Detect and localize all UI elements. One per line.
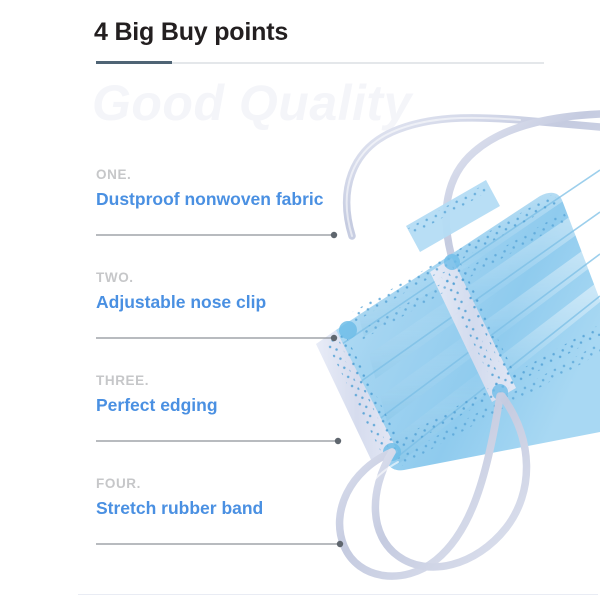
earloop-weld-point-middle bbox=[444, 254, 460, 270]
earloop-upper-group bbox=[347, 114, 600, 258]
watermark-text: Good Quality bbox=[92, 74, 412, 132]
feature-index-label: THREE. bbox=[96, 374, 218, 388]
feature-point-one: ONE. Dustproof nonwoven fabric bbox=[96, 168, 324, 208]
leader-line-one bbox=[96, 230, 346, 240]
leader-line-two bbox=[96, 333, 346, 343]
feature-point-four: FOUR. Stretch rubber band bbox=[96, 477, 263, 517]
feature-index-label: FOUR. bbox=[96, 477, 263, 491]
page-title: 4 Big Buy points bbox=[94, 18, 288, 47]
feature-point-three: THREE. Perfect edging bbox=[96, 374, 218, 414]
mask-body bbox=[316, 156, 600, 470]
feature-point-two: TWO. Adjustable nose clip bbox=[96, 271, 266, 311]
feature-title: Dustproof nonwoven fabric bbox=[96, 191, 324, 209]
nose-clip-stitch-row bbox=[352, 198, 566, 336]
earloop-weld-point-lower-left bbox=[383, 443, 401, 461]
feature-title: Stretch rubber band bbox=[96, 500, 263, 518]
feature-index-label: TWO. bbox=[96, 271, 266, 285]
earloop-weld-point-lower-middle bbox=[492, 384, 508, 400]
infographic-page: Good Quality bbox=[0, 0, 600, 600]
feature-title: Adjustable nose clip bbox=[96, 294, 266, 312]
footer-divider bbox=[78, 594, 598, 595]
feature-title: Perfect edging bbox=[96, 397, 218, 415]
earloop-lower-group bbox=[340, 396, 527, 576]
leader-line-four bbox=[96, 539, 352, 549]
mask-edge-band-middle bbox=[430, 258, 516, 402]
title-rule-accent bbox=[96, 61, 172, 64]
bottom-stitch-rows bbox=[394, 330, 600, 462]
leader-line-three bbox=[96, 436, 350, 446]
feature-index-label: ONE. bbox=[96, 168, 324, 182]
